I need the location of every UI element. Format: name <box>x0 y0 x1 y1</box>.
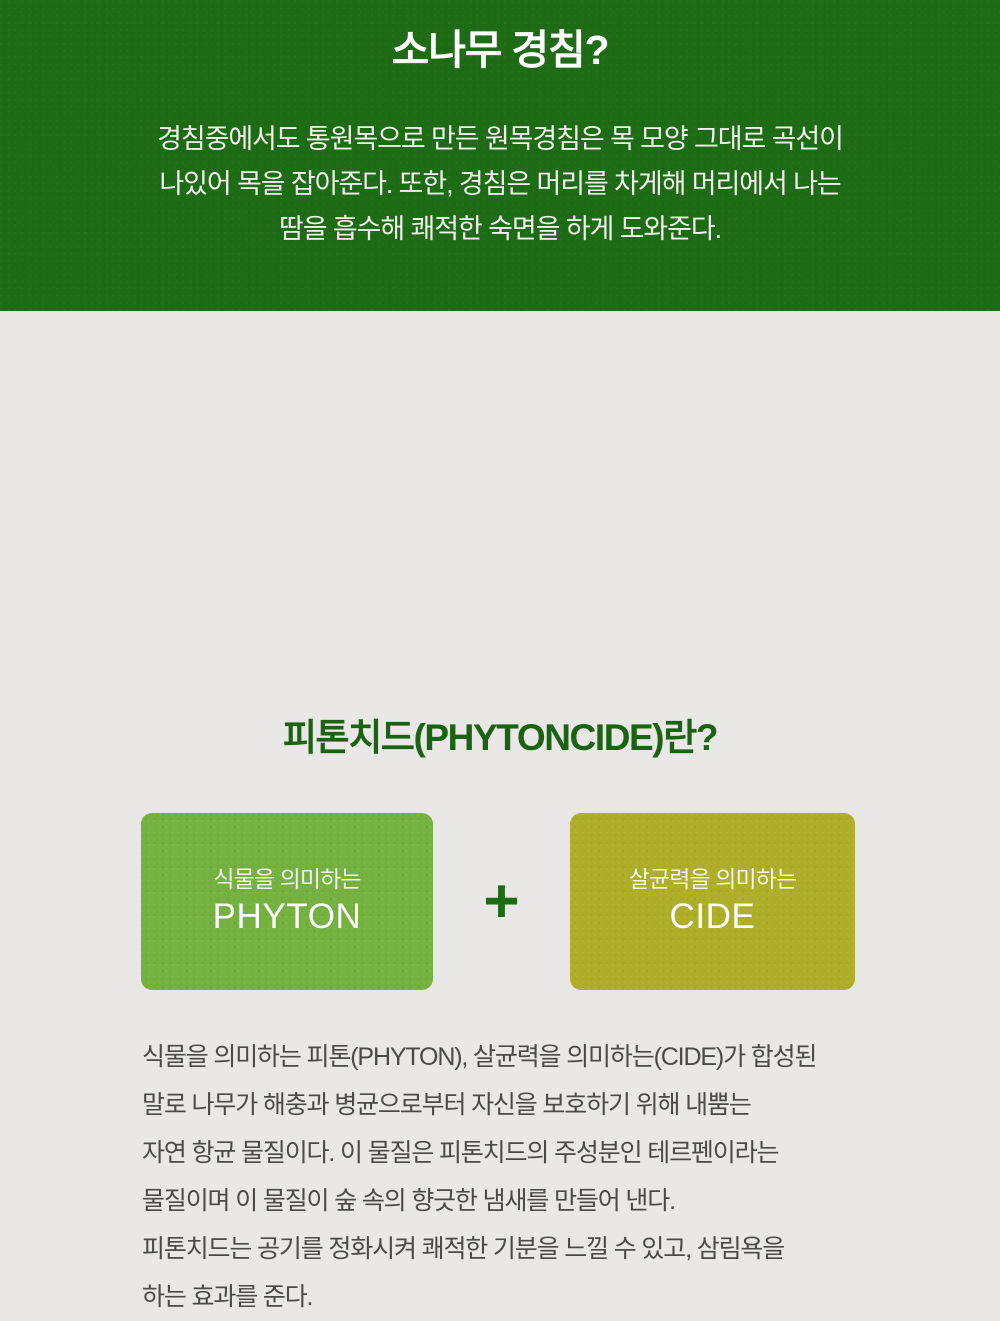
hero-description-line: 경침중에서도 통원목으로 만든 원목경침은 목 모양 그대로 곡선이 <box>0 117 1000 162</box>
term-sub-label: 식물을 의미하는 <box>213 866 360 894</box>
phytoncide-section: 피톤치드(PHYTONCIDE)란? 식물을 의미하는 PHYTON + 살균력… <box>0 311 1000 1076</box>
hero-title: 소나무 경침? <box>0 26 1000 75</box>
plus-icon: + <box>472 871 532 933</box>
term-box-cide: 살균력을 의미하는 CIDE <box>570 813 855 990</box>
hero-section: 소나무 경침? 경침중에서도 통원목으로 만든 원목경침은 목 모양 그대로 곡… <box>0 0 1000 311</box>
phytoncide-description-line: 하는 효과를 준다. <box>142 1273 902 1321</box>
phytoncide-description-line: 피톤치드는 공기를 정화시켜 쾌적한 기분을 느낄 수 있고, 삼림욕을 <box>142 1225 902 1273</box>
formula-row: 식물을 의미하는 PHYTON + 살균력을 의미하는 CIDE <box>141 813 855 990</box>
section-heading: 피톤치드(PHYTONCIDE)란? <box>0 715 1000 761</box>
hero-description: 경침중에서도 통원목으로 만든 원목경침은 목 모양 그대로 곡선이 나있어 목… <box>0 117 1000 252</box>
hero-description-line: 땀을 흡수해 쾌적한 숙면을 하게 도와준다. <box>0 207 1000 252</box>
hero-description-line: 나있어 목을 잡아준다. 또한, 경침은 머리를 차게해 머리에서 나는 <box>0 162 1000 207</box>
phytoncide-description-line: 자연 항균 물질이다. 이 물질은 피톤치드의 주성분인 테르펜이라는 <box>142 1129 902 1177</box>
term-box-phyton: 식물을 의미하는 PHYTON <box>141 813 433 990</box>
term-main-label: PHYTON <box>213 897 362 937</box>
phytoncide-description-line: 말로 나무가 해충과 병균으로부터 자신을 보호하기 위해 내뿜는 <box>142 1081 902 1129</box>
phytoncide-description-line: 식물을 의미하는 피톤(PHYTON), 살균력을 의미하는(CIDE)가 합성… <box>142 1033 902 1081</box>
phytoncide-description-line: 물질이며 이 물질이 숲 속의 향긋한 냄새를 만들어 낸다. <box>142 1177 902 1225</box>
phytoncide-description: 식물을 의미하는 피톤(PHYTON), 살균력을 의미하는(CIDE)가 합성… <box>142 1033 902 1321</box>
term-main-label: CIDE <box>669 897 755 937</box>
term-sub-label: 살균력을 의미하는 <box>629 866 797 894</box>
